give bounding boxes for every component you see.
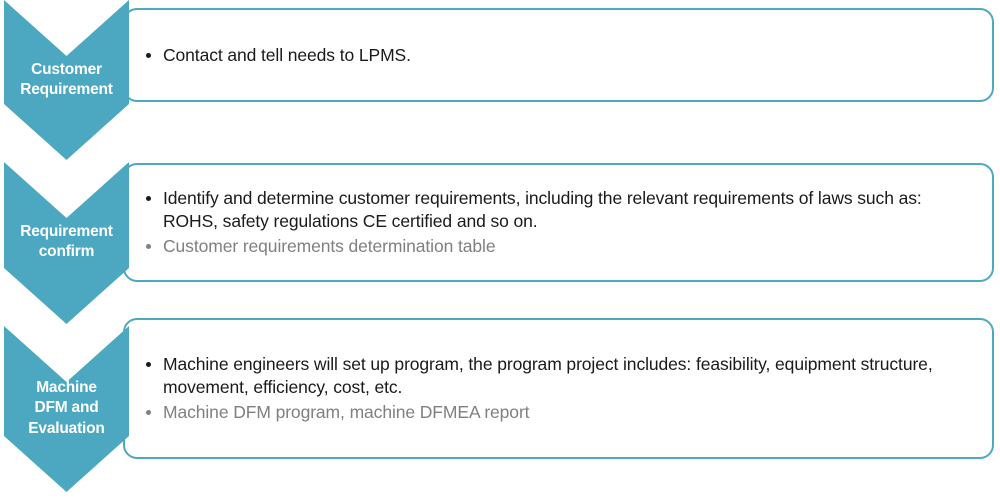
stage-chevron-2[interactable]: Requirement confirm: [4, 162, 129, 326]
stage-bullet-3-2: Machine DFM program, machine DFMEA repor…: [143, 401, 978, 424]
stage-bullet-2-1: Identify and determine customer requirem…: [143, 187, 978, 233]
stage-content-inner-2: Identify and determine customer requirem…: [143, 165, 978, 280]
stage-chevron-1[interactable]: Customer Requirement: [4, 0, 129, 162]
chevron-shape-icon: [4, 326, 129, 492]
stage-chevron-3[interactable]: Machine DFM and Evaluation: [4, 326, 129, 494]
stage-content-inner-3: Machine engineers will set up program, t…: [143, 320, 978, 457]
diagram-canvas: Contact and tell needs to LPMS. Customer…: [0, 0, 1000, 498]
stage-content-box-1: Contact and tell needs to LPMS.: [123, 8, 994, 102]
stage-bullet-3-1: Machine engineers will set up program, t…: [143, 353, 978, 399]
stage-bullet-2-2: Customer requirements determination tabl…: [143, 235, 978, 258]
chevron-shape-icon: [4, 162, 129, 324]
stage-bullet-1-1: Contact and tell needs to LPMS.: [143, 44, 978, 67]
stage-content-box-2: Identify and determine customer requirem…: [123, 163, 994, 282]
chevron-shape-icon: [4, 0, 129, 160]
stage-content-inner-1: Contact and tell needs to LPMS.: [143, 10, 978, 100]
stage-content-box-3: Machine engineers will set up program, t…: [123, 318, 994, 459]
